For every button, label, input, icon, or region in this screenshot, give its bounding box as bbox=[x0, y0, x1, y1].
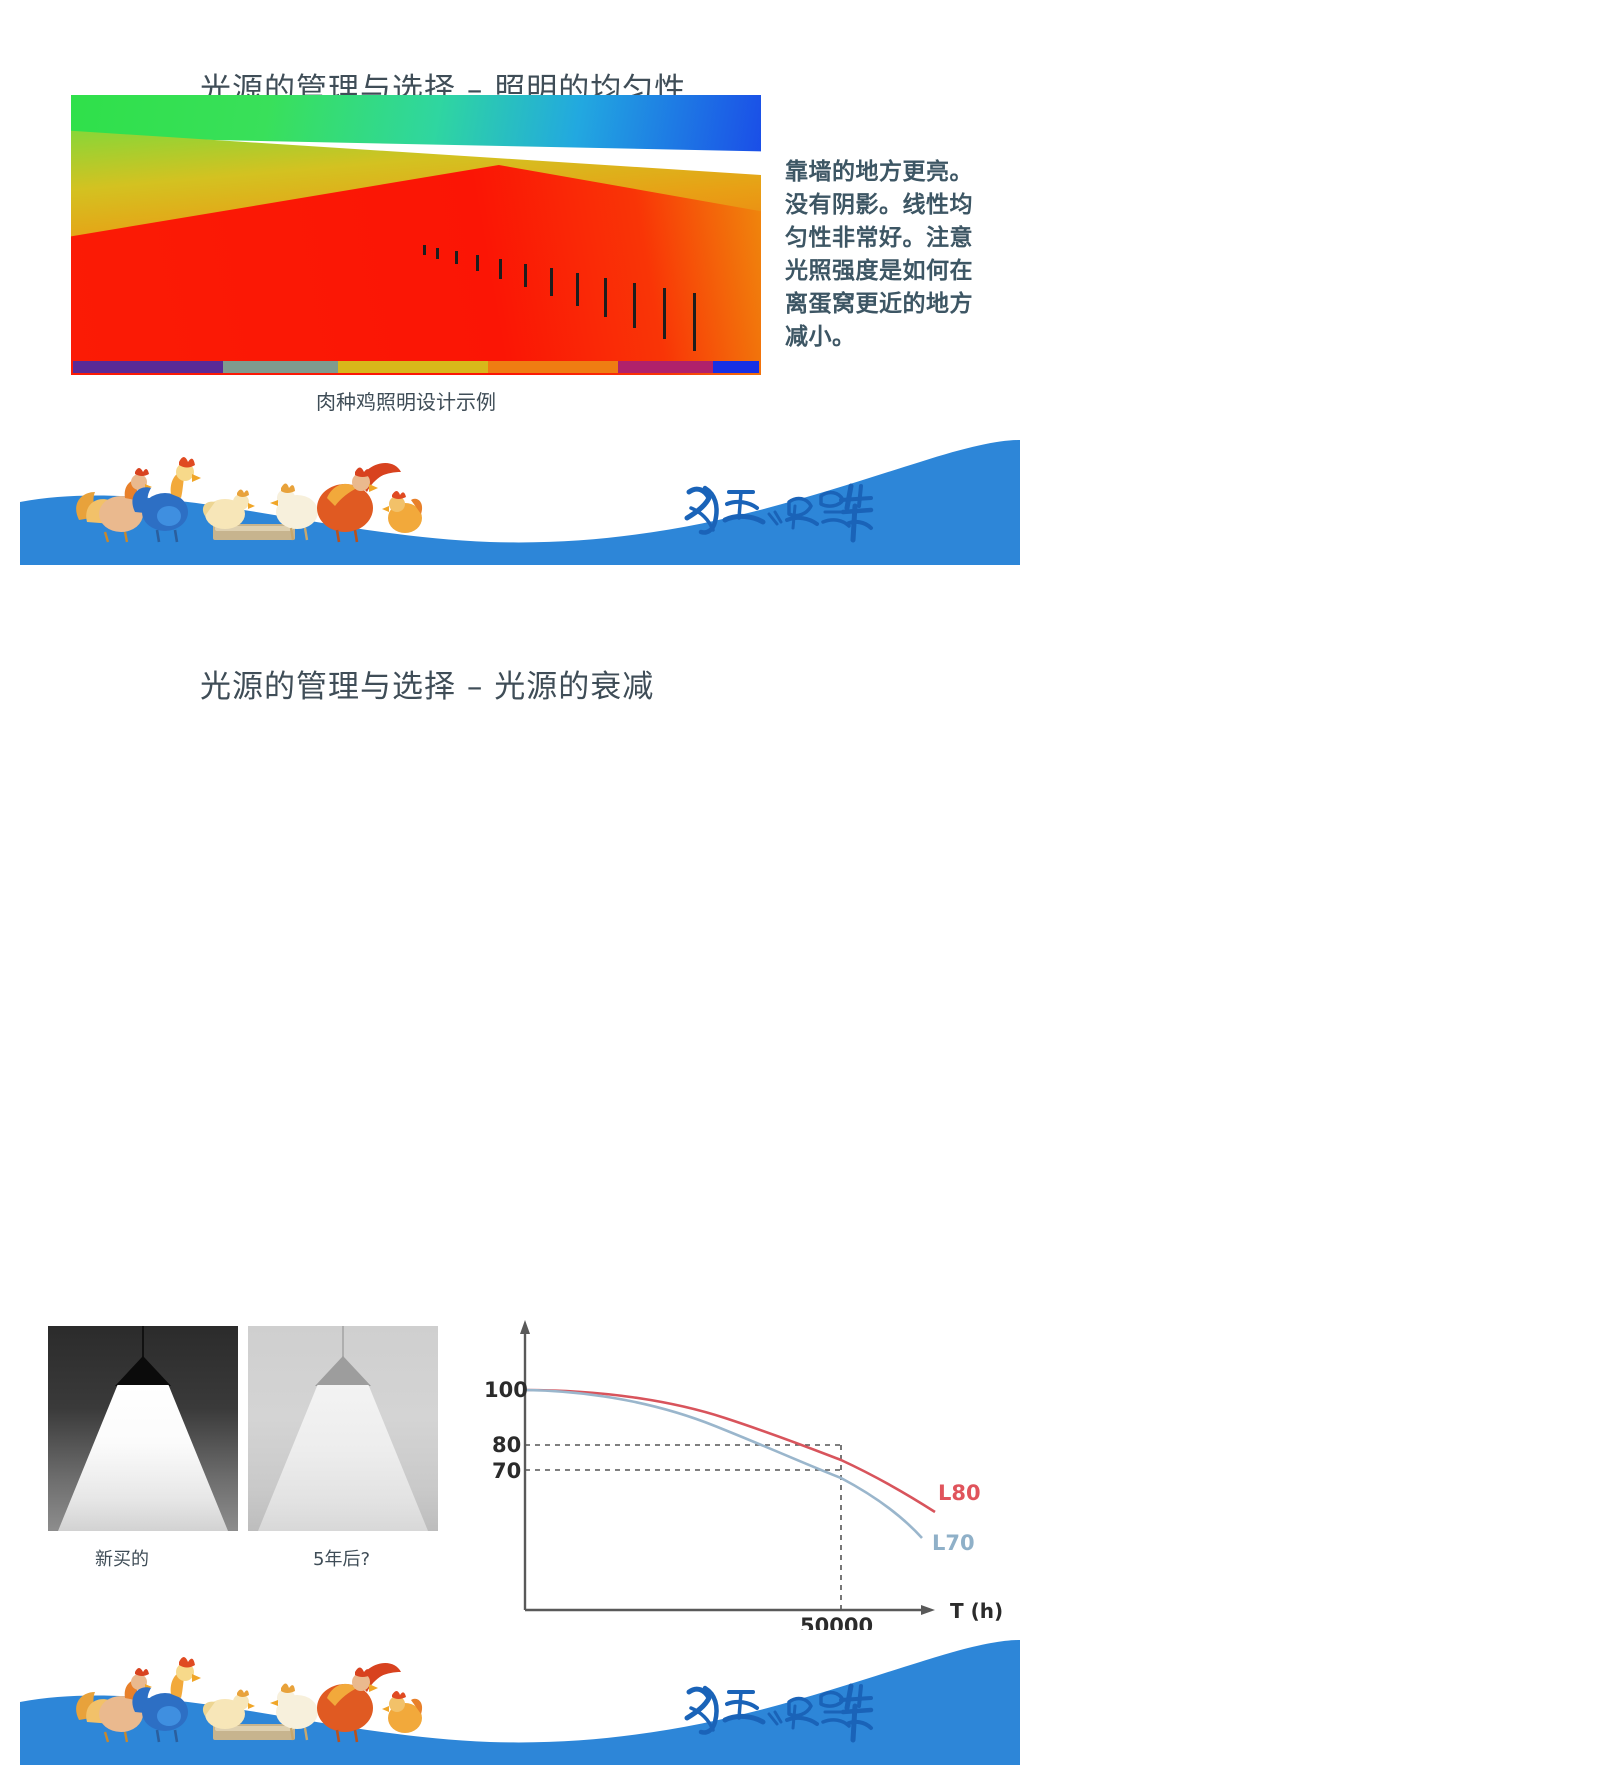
x-axis-arrow bbox=[921, 1605, 935, 1615]
render-perch-post bbox=[663, 288, 666, 339]
lamp-caption-aged: 5年后? bbox=[313, 1545, 370, 1571]
render-legend-segment bbox=[223, 361, 338, 373]
series-label-l80: L80 bbox=[938, 1481, 981, 1505]
render-perch-post bbox=[576, 273, 579, 306]
render-legend-segment bbox=[73, 361, 223, 373]
render-perch-post bbox=[524, 264, 527, 288]
lamp-cord bbox=[142, 1326, 144, 1359]
render-caption: 肉种鸡照明设计示例 bbox=[316, 386, 496, 415]
footer-band-slide1 bbox=[20, 440, 1020, 565]
render-legend-segment bbox=[618, 361, 713, 373]
y-axis-arrow bbox=[520, 1320, 530, 1334]
chicken-illustration bbox=[65, 442, 425, 547]
render-perch-post bbox=[476, 255, 479, 271]
lamp-light-cone bbox=[258, 1385, 428, 1531]
series-label-l70: L70 bbox=[932, 1531, 975, 1555]
y-tick-100: 100 bbox=[484, 1378, 528, 1402]
series-l80-curve bbox=[525, 1390, 935, 1512]
brand-logo-calligraphy bbox=[675, 472, 875, 547]
slide-lumen-depreciation: 光源的管理与选择 – 光源的衰减 新买的 5年后? 100 bbox=[0, 600, 1055, 1160]
y-tick-80: 80 bbox=[492, 1433, 521, 1457]
render-perch-post bbox=[693, 293, 696, 351]
footer-band-slide2 bbox=[20, 1640, 1020, 1765]
slide-lighting-uniformity: 光源的管理与选择 – 照明的均匀性 肉种鸡照明设计示例 靠墙的地方更亮。没有阴影… bbox=[0, 0, 1055, 580]
y-tick-70: 70 bbox=[492, 1459, 521, 1483]
x-tick-50000: 50000 bbox=[800, 1614, 873, 1630]
lamp-caption-new: 新买的 bbox=[95, 1545, 149, 1571]
render-legend-segment bbox=[338, 361, 488, 373]
render-perch-post bbox=[604, 278, 607, 317]
render-perch-post bbox=[633, 283, 636, 328]
illuminance-render-image bbox=[71, 95, 761, 375]
render-perch-post bbox=[455, 251, 458, 264]
render-perch-post bbox=[423, 245, 426, 255]
render-canvas bbox=[71, 95, 761, 375]
render-perch-post bbox=[436, 248, 439, 259]
render-legend-segment bbox=[713, 361, 759, 373]
render-legend-segment bbox=[488, 361, 618, 373]
lamp-cord bbox=[342, 1326, 344, 1359]
uniformity-note-text: 靠墙的地方更亮。没有阴影。线性均匀性非常好。注意光照强度是如何在离蛋窝更近的地方… bbox=[785, 156, 975, 354]
brand-logo-calligraphy bbox=[675, 1672, 875, 1747]
lamp-shade bbox=[115, 1356, 171, 1386]
lamp-shade bbox=[315, 1356, 371, 1386]
lamp-photo-new bbox=[48, 1326, 238, 1531]
render-perch-post bbox=[550, 268, 553, 296]
render-perch-post bbox=[499, 259, 502, 279]
series-l70-curve bbox=[525, 1390, 922, 1538]
lumen-depreciation-chart: 100 80 70 50000 T (h) L80 L70 bbox=[470, 1300, 1010, 1630]
lamp-light-cone bbox=[58, 1385, 228, 1531]
slide2-title: 光源的管理与选择 – 光源的衰减 bbox=[200, 661, 654, 706]
render-colour-legend-strip bbox=[73, 361, 759, 373]
chart-svg: 100 80 70 50000 T (h) L80 L70 bbox=[470, 1300, 1010, 1630]
lamp-photo-aged bbox=[248, 1326, 438, 1531]
x-axis-label: T (h) bbox=[950, 1599, 1003, 1623]
chicken-illustration bbox=[65, 1642, 425, 1747]
